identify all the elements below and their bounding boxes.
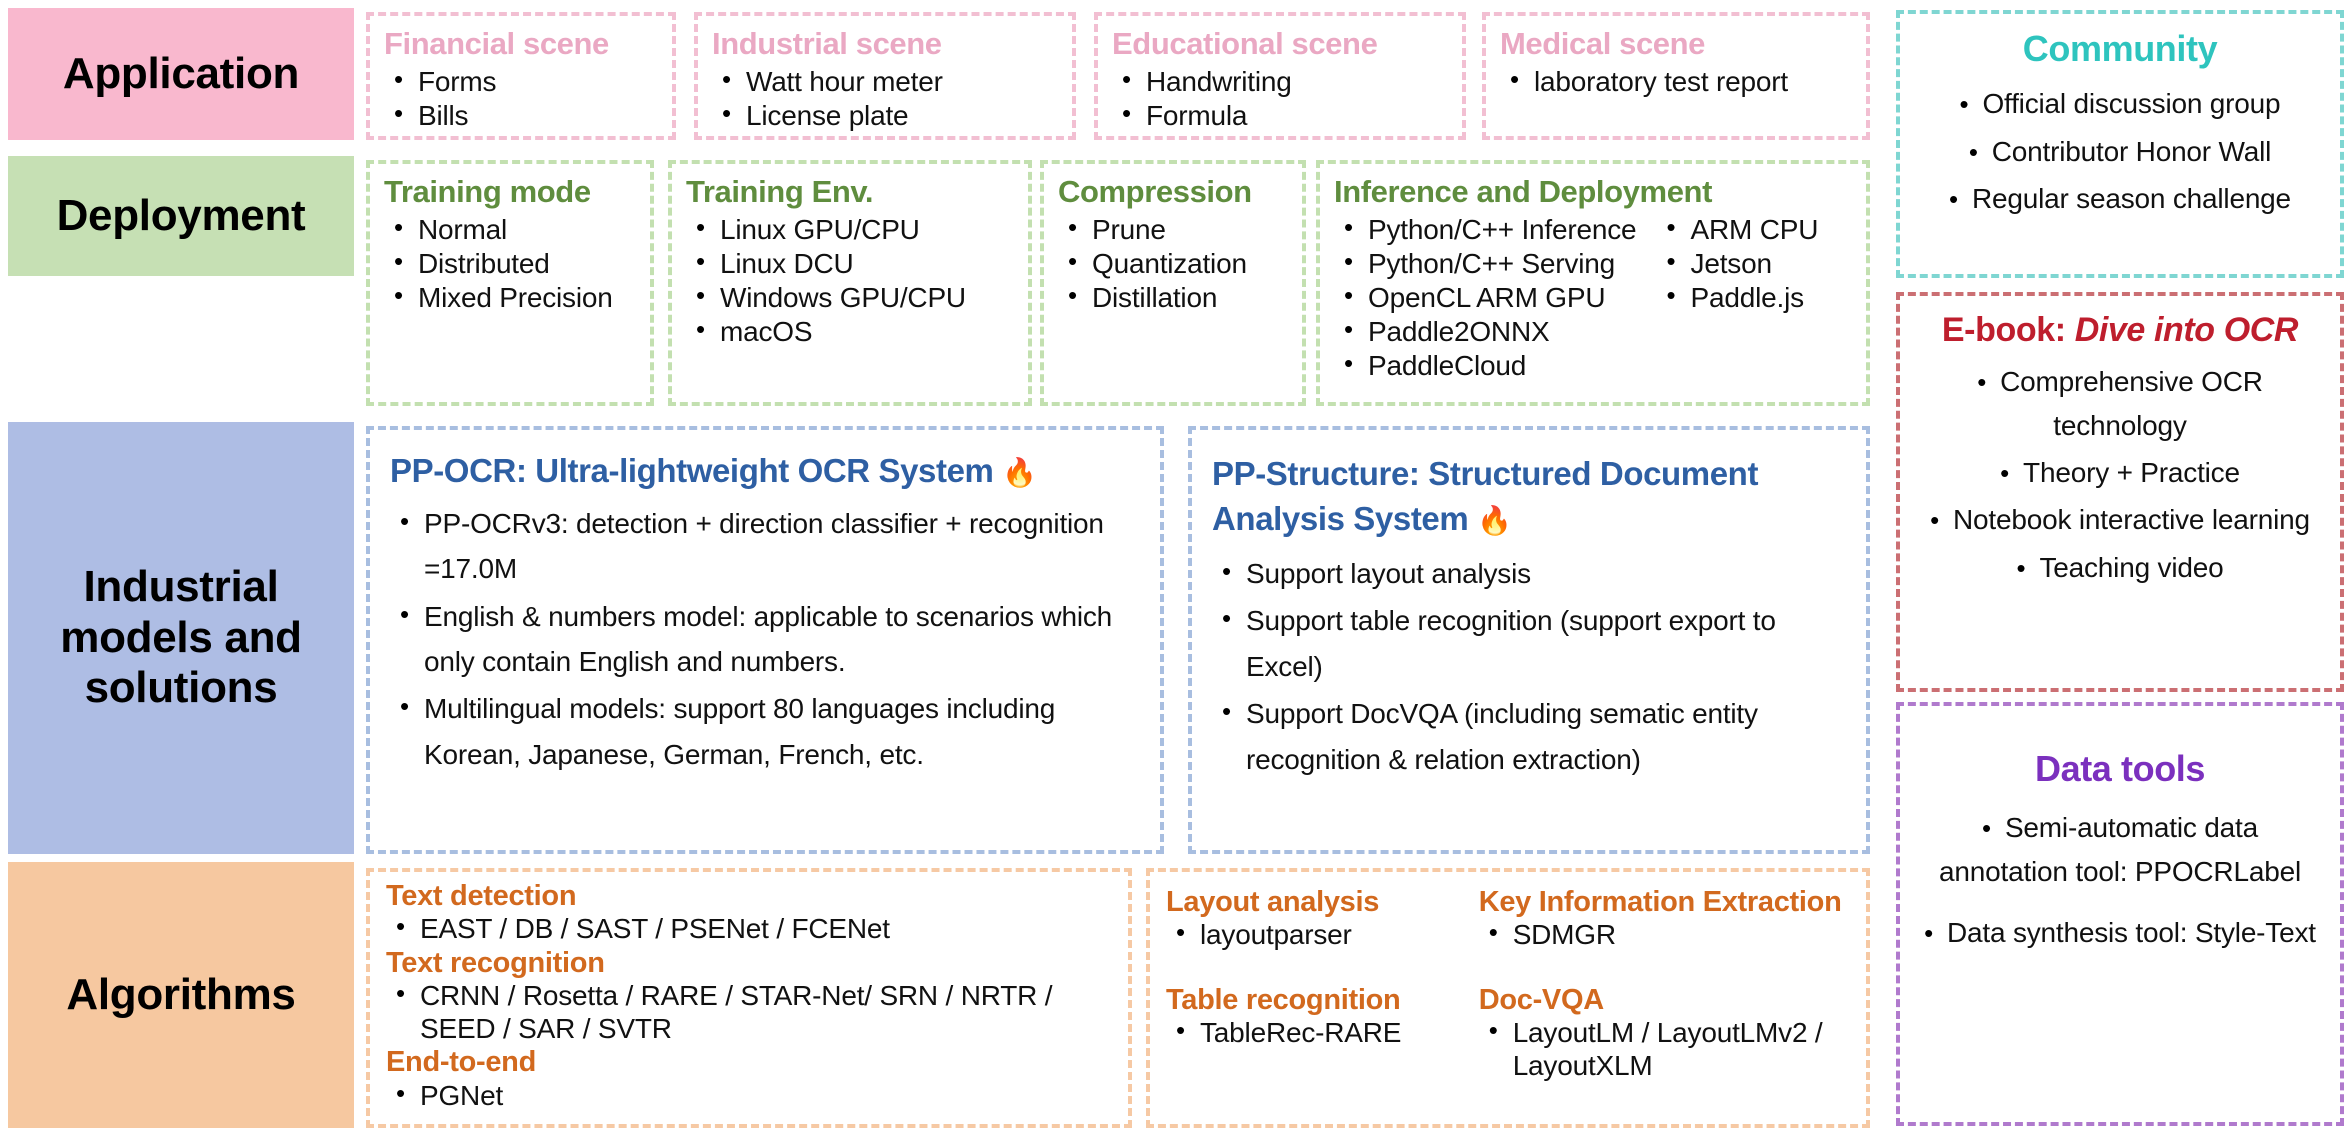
fire-icon: 🔥 xyxy=(1477,505,1511,536)
list-item: ARM CPU xyxy=(1657,213,1852,246)
algo-list-layout-analysis: layoutparser xyxy=(1166,918,1479,951)
card-title-compression: Compression xyxy=(1058,174,1288,211)
list-item: Formula xyxy=(1112,99,1448,132)
card-industrial-scene[interactable]: Industrial scene Watt hour meter License… xyxy=(694,12,1076,140)
algo-group-table-recognition: Table recognition TableRec-RARE xyxy=(1166,984,1479,1050)
list-item: Official discussion group xyxy=(1916,82,2324,125)
card-title-training-mode: Training mode xyxy=(384,174,636,211)
card-list-inference-right: ARM CPU Jetson Paddle.js xyxy=(1657,213,1852,383)
list-item: CRNN / Rosetta / RARE / STAR-Net/ SRN / … xyxy=(386,979,1112,1045)
algo-column-right: Key Information Extraction SDMGR Doc-VQA… xyxy=(1479,886,1850,1083)
card-ebook[interactable]: E-book: Dive into OCR Comprehensive OCR … xyxy=(1896,292,2344,692)
card-title-inference-deployment: Inference and Deployment xyxy=(1334,174,1852,211)
list-item: Distillation xyxy=(1058,281,1288,314)
list-item: Support DocVQA (including sematic entity… xyxy=(1212,691,1846,782)
card-pp-ocr[interactable]: PP-OCR: Ultra-lightweight OCR System 🔥 P… xyxy=(366,426,1164,854)
algo-heading-end-to-end: End-to-end xyxy=(386,1046,1112,1078)
card-financial-scene[interactable]: Financial scene Forms Bills xyxy=(366,12,676,140)
algo-list-table-recognition: TableRec-RARE xyxy=(1166,1016,1479,1049)
category-label-deployment: Deployment xyxy=(57,191,306,242)
card-data-tools[interactable]: Data tools Semi-automatic data annotatio… xyxy=(1896,702,2344,1126)
card-inference-deployment[interactable]: Inference and Deployment Python/C++ Infe… xyxy=(1316,160,1870,406)
list-item: PaddleCloud xyxy=(1334,349,1657,382)
list-item: Multilingual models: support 80 language… xyxy=(390,686,1140,777)
card-title-data-tools: Data tools xyxy=(1924,748,2316,790)
algo-heading-text-recognition: Text recognition xyxy=(386,947,1112,979)
algo-group-doc-vqa: Doc-VQA LayoutLM / LayoutLMv2 / LayoutXL… xyxy=(1479,984,1850,1083)
list-item: Normal xyxy=(384,213,636,246)
list-item: Paddle2ONNX xyxy=(1334,315,1657,348)
list-item: Notebook interactive learning xyxy=(1920,498,2320,541)
list-item: layoutparser xyxy=(1166,918,1479,951)
algo-heading-text-detection: Text detection xyxy=(386,880,1112,912)
card-list-industrial-scene: Watt hour meter License plate xyxy=(712,65,1058,132)
card-list-pp-structure: Support layout analysis Support table re… xyxy=(1212,551,1846,782)
list-item: SDMGR xyxy=(1479,918,1850,951)
list-item: Contributor Honor Wall xyxy=(1916,130,2324,173)
card-title-industrial-scene: Industrial scene xyxy=(712,26,1058,63)
card-title-training-env: Training Env. xyxy=(686,174,1014,211)
list-item: Distributed xyxy=(384,247,636,280)
card-title-medical-scene: Medical scene xyxy=(1500,26,1852,63)
list-item: License plate xyxy=(712,99,1058,132)
algo-group-end-to-end: End-to-end PGNet xyxy=(386,1046,1112,1112)
card-title-educational-scene: Educational scene xyxy=(1112,26,1448,63)
card-title-pp-structure: PP-Structure: Structured Document Analys… xyxy=(1212,452,1846,541)
card-list-ebook: Comprehensive OCR technology Theory + Pr… xyxy=(1920,360,2320,589)
list-item: Jetson xyxy=(1657,247,1852,280)
card-list-data-tools: Semi-automatic data annotation tool: PPO… xyxy=(1924,806,2316,954)
list-item: Forms xyxy=(384,65,658,98)
card-title-pp-ocr: PP-OCR: Ultra-lightweight OCR System 🔥 xyxy=(390,452,1140,491)
list-item: Support layout analysis xyxy=(1212,551,1846,596)
list-item: Quantization xyxy=(1058,247,1288,280)
list-item: LayoutLM / LayoutLMv2 / LayoutXLM xyxy=(1479,1016,1850,1082)
algo-heading-table-recognition: Table recognition xyxy=(1166,984,1479,1016)
algo-group-text-recognition: Text recognition CRNN / Rosetta / RARE /… xyxy=(386,947,1112,1046)
card-list-inference-left: Python/C++ Inference Python/C++ Serving … xyxy=(1334,213,1657,383)
card-algorithms-structure[interactable]: Layout analysis layoutparser Table recog… xyxy=(1146,868,1870,1128)
list-item: Linux DCU xyxy=(686,247,1014,280)
category-block-algorithms: Algorithms xyxy=(8,862,354,1128)
list-item: Linux GPU/CPU xyxy=(686,213,1014,246)
card-title-community: Community xyxy=(1916,28,2324,70)
algo-list-end-to-end: PGNet xyxy=(386,1079,1112,1112)
algo-group-key-information-extraction: Key Information Extraction SDMGR xyxy=(1479,886,1850,952)
algo-group-text-detection: Text detection EAST / DB / SAST / PSENet… xyxy=(386,880,1112,946)
card-title-ebook: E-book: Dive into OCR xyxy=(1920,310,2320,350)
list-item: Watt hour meter xyxy=(712,65,1058,98)
card-list-financial-scene: Forms Bills xyxy=(384,65,658,132)
card-list-training-mode: Normal Distributed Mixed Precision xyxy=(384,213,636,314)
card-list-community: Official discussion group Contributor Ho… xyxy=(1916,82,2324,220)
card-pp-structure[interactable]: PP-Structure: Structured Document Analys… xyxy=(1188,426,1870,854)
list-item: Python/C++ Serving xyxy=(1334,247,1657,280)
card-compression[interactable]: Compression Prune Quantization Distillat… xyxy=(1040,160,1306,406)
list-item: Bills xyxy=(384,99,658,132)
list-item: Theory + Practice xyxy=(1920,451,2320,494)
algo-list-text-detection: EAST / DB / SAST / PSENet / FCENet xyxy=(386,912,1112,945)
list-item: Windows GPU/CPU xyxy=(686,281,1014,314)
algo-heading-layout-analysis: Layout analysis xyxy=(1166,886,1479,918)
category-block-industrial: Industrial models and solutions xyxy=(8,422,354,854)
card-title-financial-scene: Financial scene xyxy=(384,26,658,63)
category-label-industrial: Industrial models and solutions xyxy=(56,562,306,714)
list-item: Paddle.js xyxy=(1657,281,1852,314)
card-list-educational-scene: Handwriting Formula xyxy=(1112,65,1448,132)
fire-icon: 🔥 xyxy=(1002,457,1036,488)
card-educational-scene[interactable]: Educational scene Handwriting Formula xyxy=(1094,12,1466,140)
card-list-training-env: Linux GPU/CPU Linux DCU Windows GPU/CPU … xyxy=(686,213,1014,348)
category-block-deployment: Deployment xyxy=(8,156,354,276)
list-item: EAST / DB / SAST / PSENet / FCENet xyxy=(386,912,1112,945)
list-item: PGNet xyxy=(386,1079,1112,1112)
list-item: TableRec-RARE xyxy=(1166,1016,1479,1049)
card-algorithms-core[interactable]: Text detection EAST / DB / SAST / PSENet… xyxy=(366,868,1132,1128)
list-item: Handwriting xyxy=(1112,65,1448,98)
card-training-env[interactable]: Training Env. Linux GPU/CPU Linux DCU Wi… xyxy=(668,160,1032,406)
list-item: laboratory test report xyxy=(1500,65,1814,98)
card-title-ebook-prefix: E-book: xyxy=(1942,311,2075,349)
list-item: macOS xyxy=(686,315,1014,348)
card-title-text-pp-ocr: PP-OCR: Ultra-lightweight OCR System xyxy=(390,452,993,489)
card-medical-scene[interactable]: Medical scene laboratory test report xyxy=(1482,12,1870,140)
card-training-mode[interactable]: Training mode Normal Distributed Mixed P… xyxy=(366,160,654,406)
diagram-canvas: Application Deployment Industrial models… xyxy=(0,0,2352,1136)
category-label-application: Application xyxy=(63,49,299,100)
list-item: PP-OCRv3: detection + direction classifi… xyxy=(390,501,1140,592)
list-item: Semi-automatic data annotation tool: PPO… xyxy=(1924,806,2316,893)
algo-heading-doc-vqa: Doc-VQA xyxy=(1479,984,1850,1016)
card-community[interactable]: Community Official discussion group Cont… xyxy=(1896,10,2344,278)
card-list-pp-ocr: PP-OCRv3: detection + direction classifi… xyxy=(390,501,1140,777)
algo-list-text-recognition: CRNN / Rosetta / RARE / STAR-Net/ SRN / … xyxy=(386,979,1112,1045)
card-list-medical-scene: laboratory test report xyxy=(1500,65,1852,98)
list-item: Prune xyxy=(1058,213,1288,246)
algo-heading-key-information-extraction: Key Information Extraction xyxy=(1479,886,1850,918)
algo-group-layout-analysis: Layout analysis layoutparser xyxy=(1166,886,1479,952)
list-item: English & numbers model: applicable to s… xyxy=(390,594,1140,685)
algo-columns: Layout analysis layoutparser Table recog… xyxy=(1166,886,1850,1083)
list-item: Mixed Precision xyxy=(384,281,636,314)
category-block-application: Application xyxy=(8,8,354,140)
algo-list-key-information-extraction: SDMGR xyxy=(1479,918,1850,951)
algo-column-left: Layout analysis layoutparser Table recog… xyxy=(1166,886,1479,1083)
card-title-ebook-name: Dive into OCR xyxy=(2075,311,2298,349)
list-item: Python/C++ Inference xyxy=(1334,213,1657,246)
list-item: Comprehensive OCR technology xyxy=(1920,360,2320,447)
list-item: Teaching video xyxy=(1920,546,2320,589)
card-columns-inference-deployment: Python/C++ Inference Python/C++ Serving … xyxy=(1334,213,1852,383)
category-label-algorithms: Algorithms xyxy=(66,970,295,1021)
list-item: Support table recognition (support expor… xyxy=(1212,598,1846,689)
algo-list-doc-vqa: LayoutLM / LayoutLMv2 / LayoutXLM xyxy=(1479,1016,1850,1082)
card-list-compression: Prune Quantization Distillation xyxy=(1058,213,1288,314)
list-item: Regular season challenge xyxy=(1916,177,2324,220)
list-item: OpenCL ARM GPU xyxy=(1334,281,1657,314)
list-item: Data synthesis tool: Style-Text xyxy=(1924,911,2316,954)
